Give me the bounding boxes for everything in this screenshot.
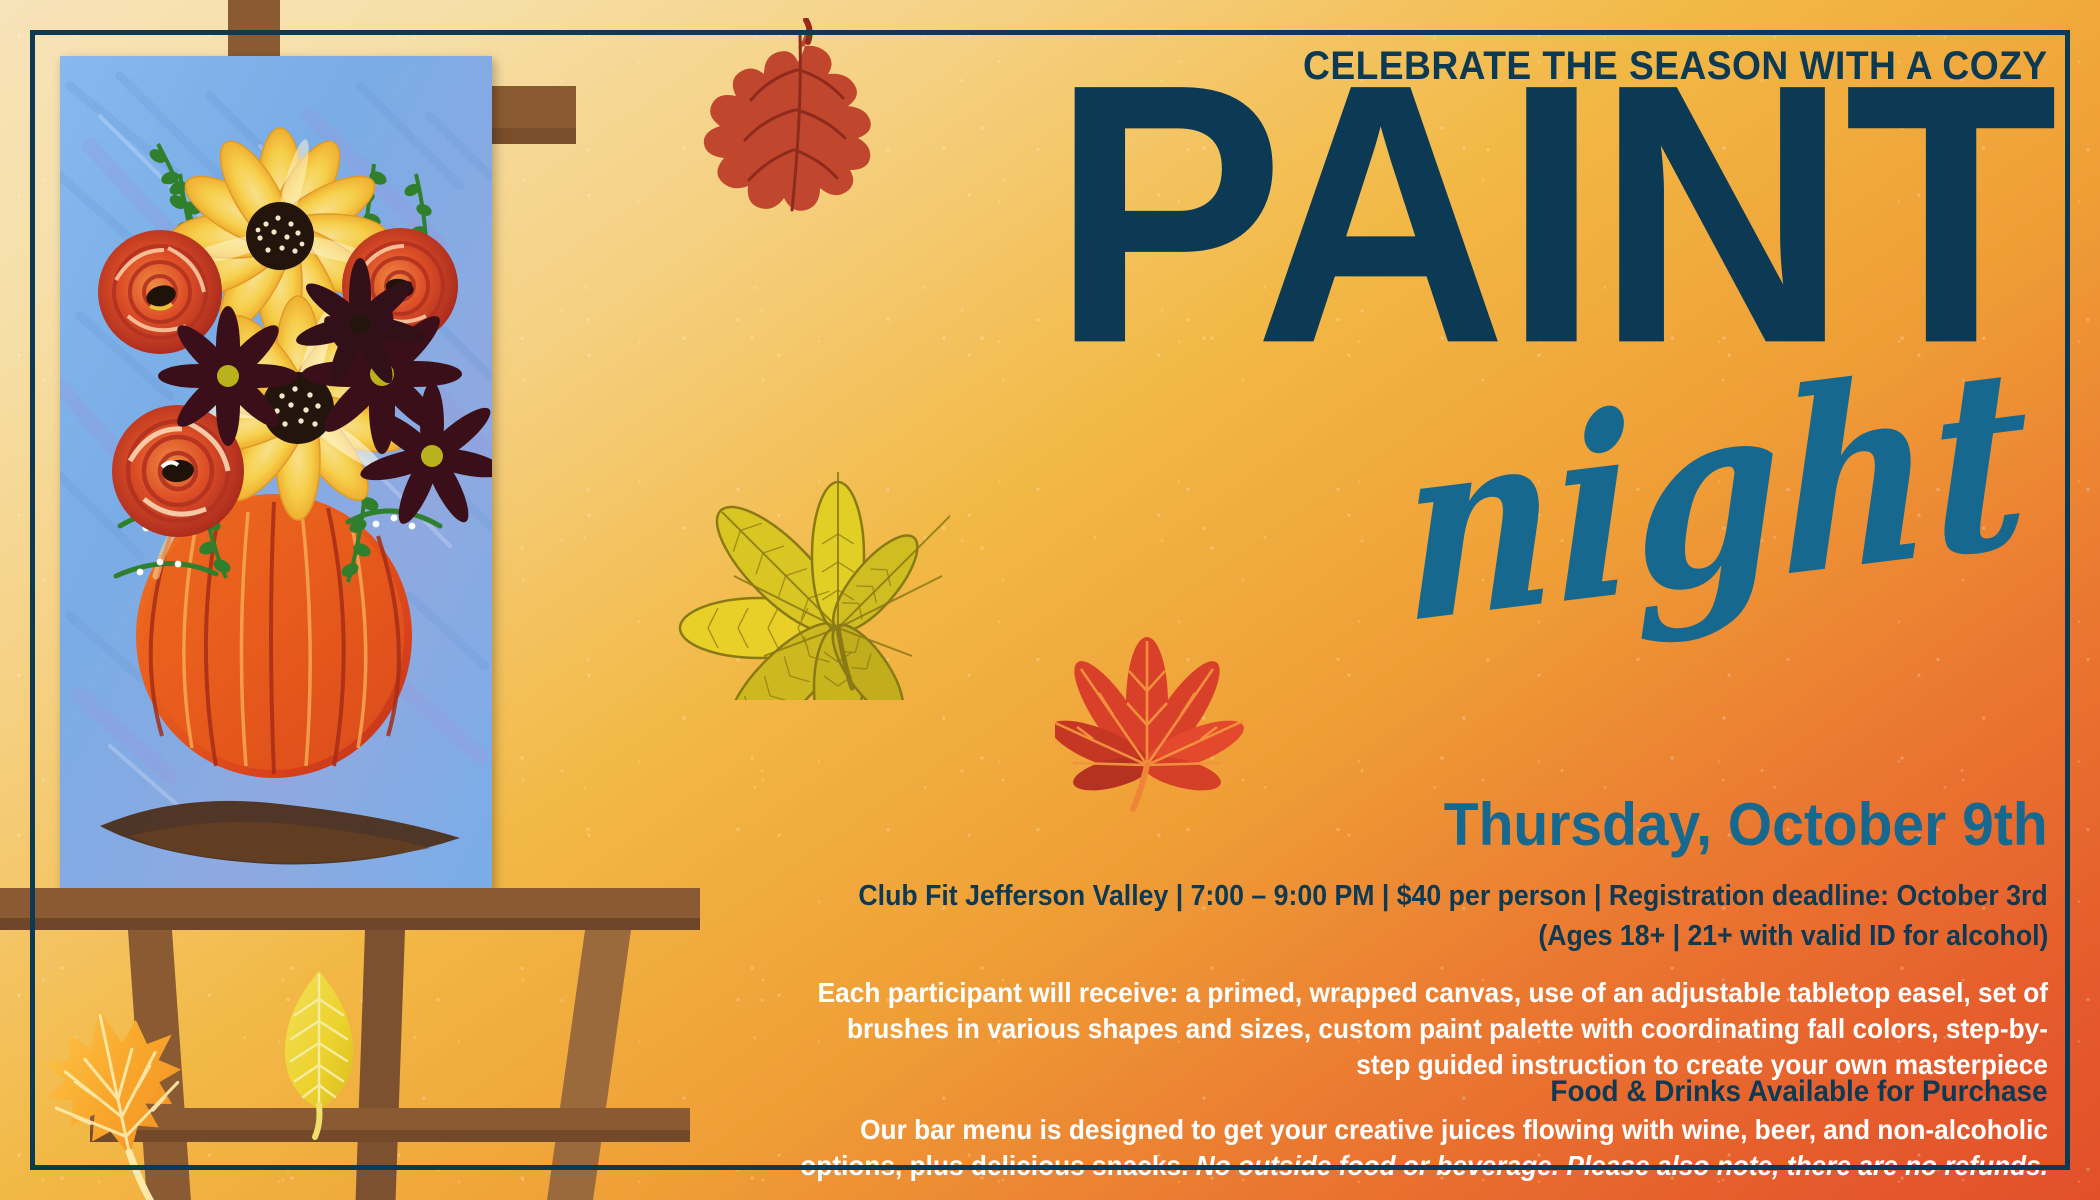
- maple-leaf-orange-icon: [10, 980, 260, 1200]
- script-word-night: night: [1402, 332, 2031, 658]
- easel-tray-shadow: [0, 918, 700, 930]
- oak-leaf-icon: [700, 18, 890, 218]
- maple-leaf-red-icon: [1055, 625, 1250, 815]
- page-title-paint: PAINT: [1052, 58, 2054, 368]
- birch-leaf-yellow-icon: [265, 965, 375, 1145]
- fall-pumpkin-floral-painting: [60, 56, 492, 891]
- event-includes-description: Each participant will receive: a primed,…: [797, 975, 2048, 1082]
- event-age-requirements: (Ages 18+ | 21+ with valid ID for alcoho…: [1538, 920, 2048, 953]
- easel-leg-right: [547, 930, 631, 1200]
- food-drinks-heading: Food & Drinks Available for Purchase: [1551, 1075, 2048, 1109]
- bar-menu-description: Our bar menu is designed to get your cre…: [797, 1112, 2048, 1184]
- bar-menu-policy-note: No outside food or beverage. Please also…: [1196, 1150, 2048, 1181]
- event-venue-details: Club Fit Jefferson Valley | 7:00 – 9:00 …: [859, 880, 2048, 913]
- chestnut-leaf-icon: [670, 430, 950, 700]
- event-date: Thursday, October 9th: [1444, 790, 2048, 859]
- paint-night-poster: CELEBRATE THE SEASON WITH A COZY PAINT n…: [0, 0, 2100, 1200]
